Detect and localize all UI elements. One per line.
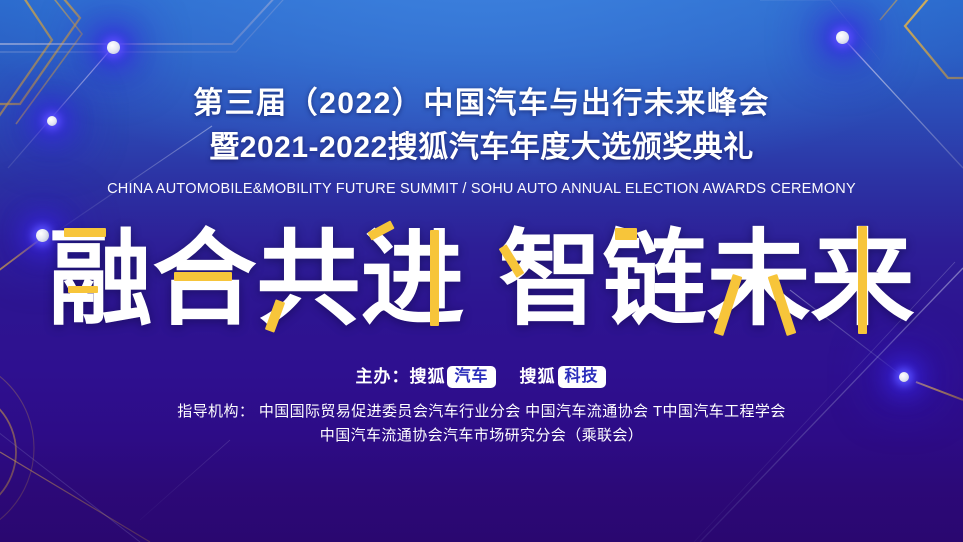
title-line-2: 暨2021-2022搜狐汽车年度大选颁奖典礼 <box>0 126 963 170</box>
poster-content: 第三届（2022）中国汽车与出行未来峰会 暨2021-2022搜狐汽车年度大选颁… <box>0 0 963 542</box>
accent-stroke <box>498 244 524 278</box>
accent-stroke <box>615 228 637 240</box>
accent-stroke <box>858 226 867 334</box>
slogan-char-he: 合 <box>152 222 256 338</box>
slogan-char-gong: 共 <box>256 222 360 338</box>
accent-stroke <box>713 274 742 336</box>
host-label: 主办： <box>355 367 409 386</box>
title-block: 第三届（2022）中国汽车与出行未来峰会 暨2021-2022搜狐汽车年度大选颁… <box>0 82 963 197</box>
slogan-char-zhi: 智 <box>499 222 603 338</box>
accent-stroke <box>265 299 285 332</box>
subtitle-english: CHINA AUTOMOBILE&MOBILITY FUTURE SUMMIT … <box>0 181 963 197</box>
slogan-char-lian: 链 <box>603 222 707 338</box>
slogan-char-rong: 融 <box>48 222 152 338</box>
accent-stroke <box>368 220 395 240</box>
host-brand-1-prefix: 搜狐 <box>409 367 445 386</box>
slogan-char-wei: 未 <box>707 222 811 338</box>
host-line: 主办：搜狐汽车搜狐科技 <box>0 362 963 388</box>
host-brand-2-tag: 科技 <box>558 366 606 388</box>
slogan-char-lai: 来 <box>811 222 915 338</box>
accent-stroke <box>68 286 98 293</box>
guidance-line-2: 中国汽车流通协会汽车市场研究分会（乘联会） <box>0 424 963 448</box>
host-brand-2-prefix: 搜狐 <box>520 367 556 386</box>
summit-poster: 第三届（2022）中国汽车与出行未来峰会 暨2021-2022搜狐汽车年度大选颁… <box>0 0 963 542</box>
accent-stroke <box>430 230 439 326</box>
accent-stroke <box>174 272 232 281</box>
accent-stroke <box>64 228 106 237</box>
slogan-char-jin: 进 <box>360 222 464 338</box>
slogan: 融 合 共 进 智 链 未 来 <box>0 222 963 338</box>
guidance-block: 指导机构： 中国国际贸易促进委员会汽车行业分会 中国汽车流通协会 T中国汽车工程… <box>0 400 963 448</box>
accent-stroke <box>767 274 796 336</box>
title-line-1: 第三届（2022）中国汽车与出行未来峰会 <box>0 82 963 126</box>
guidance-line-1: 指导机构： 中国国际贸易促进委员会汽车行业分会 中国汽车流通协会 T中国汽车工程… <box>0 400 963 424</box>
host-brand-1-tag: 汽车 <box>447 366 495 388</box>
